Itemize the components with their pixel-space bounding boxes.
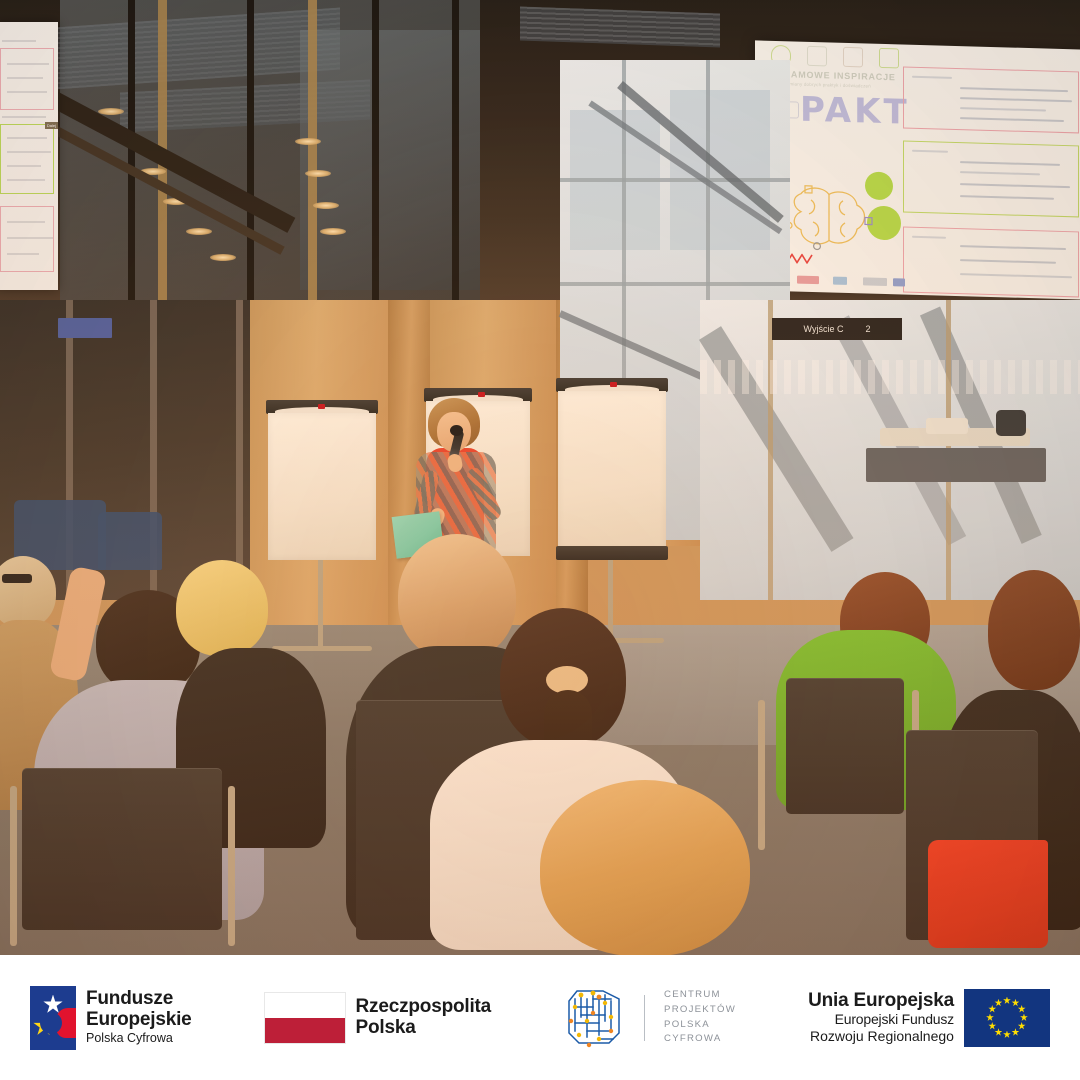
cppc-divider bbox=[644, 995, 645, 1041]
fundusze-line1: Fundusze bbox=[86, 989, 192, 1010]
slide-row bbox=[960, 117, 1064, 122]
slide-panel-pink bbox=[0, 48, 54, 110]
exit-sign-number: 2 bbox=[865, 324, 870, 334]
window-mullion bbox=[452, 0, 459, 312]
flipchart-foot bbox=[272, 646, 372, 651]
exit-sign-label: Wyjście C bbox=[804, 324, 844, 334]
eu-flag-icon bbox=[964, 989, 1050, 1047]
fundusze-line2: Europejskie bbox=[86, 1010, 192, 1031]
logo-fundusze-europejskie: Fundusze Europejskie Polska Cyfrowa bbox=[30, 986, 192, 1050]
unia-line2: Europejski Fundusz bbox=[808, 1012, 954, 1027]
bench-seat bbox=[926, 418, 968, 434]
slide-row bbox=[7, 63, 49, 65]
chair-frame bbox=[10, 786, 17, 946]
ceiling-light bbox=[186, 228, 212, 235]
unia-europejska-text: Unia Europejska Europejski Fundusz Rozwo… bbox=[808, 991, 954, 1044]
slide-row bbox=[960, 107, 1046, 112]
slide-row bbox=[960, 87, 1068, 92]
cppc-line3: POLSKA bbox=[664, 1018, 736, 1033]
slide-row bbox=[7, 253, 39, 255]
slide-heading-line bbox=[2, 116, 46, 118]
slide-row bbox=[7, 151, 51, 153]
rzeczpospolita-line1: Rzeczpospolita bbox=[356, 997, 492, 1018]
slide-agenda-panel-pink bbox=[903, 227, 1079, 298]
flipchart-marker-dot bbox=[610, 382, 617, 387]
slide-row bbox=[960, 195, 1054, 200]
chair-frame bbox=[228, 786, 235, 946]
slide-logo-chip bbox=[893, 278, 905, 286]
red-jacket-on-chair bbox=[928, 840, 1048, 948]
slide-row bbox=[912, 76, 952, 79]
eu-star-icon bbox=[1011, 999, 1019, 1007]
slide-row bbox=[912, 150, 948, 153]
slide-logo-chip bbox=[797, 276, 819, 285]
flipchart-marker-dot bbox=[318, 404, 325, 409]
polish-flag-icon bbox=[264, 992, 346, 1044]
blue-circle-icon bbox=[40, 1012, 62, 1034]
slide-row bbox=[960, 171, 1040, 175]
window-mullion bbox=[247, 0, 254, 312]
eu-star-icon bbox=[988, 1022, 996, 1030]
slide-logo-chip bbox=[833, 277, 847, 285]
logo-unia-europejska: Unia Europejska Europejski Fundusz Rozwo… bbox=[808, 989, 1050, 1047]
steam-icon-tech bbox=[807, 46, 827, 67]
projection-screen-left: Dalej bbox=[0, 22, 58, 290]
lounge-chair bbox=[98, 512, 162, 570]
frosted-glass-graphics bbox=[700, 360, 1080, 394]
slide-row bbox=[960, 161, 1060, 166]
slide-row bbox=[7, 77, 43, 79]
audience-head bbox=[988, 570, 1080, 690]
event-photograph: Dalej STEAMOWE INSPIRACJE Czas wymiany d… bbox=[0, 0, 1080, 955]
ceiling-light bbox=[210, 254, 236, 261]
steam-icon-engineering bbox=[843, 47, 863, 68]
microphone-head bbox=[450, 425, 463, 436]
slide-logo-chip bbox=[863, 277, 887, 286]
slide-next-tag: Dalej bbox=[45, 122, 58, 129]
page-root: Dalej STEAMOWE INSPIRACJE Czas wymiany d… bbox=[0, 0, 1080, 1080]
flipchart-paper bbox=[558, 391, 666, 550]
window-mullion bbox=[560, 178, 790, 182]
slide-panel-pink bbox=[0, 206, 54, 272]
logo-cppc: CENTRUM PROJEKTÓW POLSKA CYFROWA bbox=[563, 987, 736, 1049]
logo-rzeczpospolita-polska: Rzeczpospolita Polska bbox=[264, 992, 492, 1044]
steam-icon-arts bbox=[879, 48, 899, 69]
eu-star-icon bbox=[1018, 1005, 1026, 1013]
eu-star-icon bbox=[1018, 1022, 1026, 1030]
eu-star-icon bbox=[986, 1014, 994, 1022]
brain-illustration bbox=[781, 181, 877, 254]
eu-star-icon bbox=[1003, 997, 1011, 1005]
ceiling-light bbox=[320, 228, 346, 235]
slide-row bbox=[960, 245, 1066, 250]
flipchart-left bbox=[266, 400, 378, 560]
slide-row bbox=[7, 221, 45, 223]
audience-head bbox=[176, 560, 268, 656]
slide-row bbox=[960, 97, 1072, 102]
slide-row bbox=[7, 179, 45, 181]
unia-line3: Rozwoju Regionalnego bbox=[808, 1029, 954, 1044]
slide-row bbox=[7, 137, 47, 139]
cppc-circuit-mark-icon bbox=[563, 987, 625, 1049]
slide-brand: PAKT bbox=[800, 90, 910, 133]
exit-sign: Wyjście C 2 bbox=[772, 318, 902, 340]
audience-chair bbox=[22, 768, 222, 930]
cppc-line4: CYFROWA bbox=[664, 1032, 736, 1047]
eu-star-icon bbox=[988, 1005, 996, 1013]
eu-funding-logo-bar: Fundusze Europejskie Polska Cyfrowa Rzec… bbox=[0, 955, 1080, 1080]
eu-star-icon bbox=[1020, 1014, 1028, 1022]
rzeczpospolita-line2: Polska bbox=[356, 1018, 492, 1039]
audience-head-blonde bbox=[540, 780, 750, 955]
fundusze-europejskie-text: Fundusze Europejskie Polska Cyfrowa bbox=[86, 989, 192, 1046]
slide-row bbox=[7, 165, 41, 167]
eu-star-icon bbox=[994, 999, 1002, 1007]
slide-heading-line bbox=[2, 40, 36, 42]
flag-red-band bbox=[265, 1018, 345, 1043]
cppc-line2: PROJEKTÓW bbox=[664, 1003, 736, 1018]
eu-star-icon bbox=[1011, 1028, 1019, 1036]
slide-row bbox=[960, 273, 1072, 278]
rzeczpospolita-text: Rzeczpospolita Polska bbox=[356, 997, 492, 1038]
eu-star-icon bbox=[994, 1028, 1002, 1036]
flipchart-right bbox=[556, 378, 668, 550]
ceiling-light bbox=[305, 170, 331, 177]
flipchart-marker-dot bbox=[478, 392, 485, 397]
window-mullion bbox=[372, 0, 379, 312]
eyeglasses bbox=[2, 574, 32, 583]
flipchart-leg bbox=[608, 560, 613, 640]
slide-agenda-panel-pink bbox=[903, 67, 1079, 134]
ceiling-duct bbox=[520, 7, 720, 48]
slide-agenda-panel-green bbox=[903, 141, 1079, 218]
door-frame bbox=[768, 300, 773, 600]
audience-head-bald bbox=[398, 534, 516, 660]
audience-chair bbox=[786, 678, 904, 814]
slide-row bbox=[7, 91, 47, 93]
flag-white-band bbox=[265, 993, 345, 1018]
bag-object bbox=[996, 410, 1026, 436]
cppc-text: CENTRUM PROJEKTÓW POLSKA CYFROWA bbox=[664, 988, 736, 1047]
flipchart-tray bbox=[556, 546, 668, 560]
window-mullion bbox=[236, 300, 243, 600]
slide-row bbox=[960, 183, 1070, 188]
window-mullion bbox=[560, 282, 790, 286]
slide-row bbox=[960, 259, 1056, 264]
slide-row bbox=[912, 236, 946, 239]
wall-monitor bbox=[58, 318, 112, 338]
projection-screen-right: STEAMOWE INSPIRACJE Czas wymiany dobrych… bbox=[755, 40, 1080, 299]
flipchart-leg bbox=[318, 560, 323, 648]
slide-panel-green bbox=[0, 124, 54, 194]
cppc-line1: CENTRUM bbox=[664, 988, 736, 1003]
eu-star-icon bbox=[1003, 1031, 1011, 1039]
chair-frame bbox=[758, 700, 765, 850]
fundusze-line3: Polska Cyfrowa bbox=[86, 1032, 192, 1046]
unia-line1: Unia Europejska bbox=[808, 991, 954, 1012]
window-mullion bbox=[128, 0, 135, 312]
slide-row bbox=[7, 237, 53, 239]
atrium-glazing-right: Wyjście C 2 bbox=[700, 300, 1080, 600]
flipchart-paper bbox=[268, 413, 376, 560]
ceiling-light bbox=[295, 138, 321, 145]
fundusze-europejskie-mark-icon bbox=[30, 986, 76, 1050]
seating-platform bbox=[866, 448, 1046, 482]
ceiling-light bbox=[313, 202, 339, 209]
ceiling-light bbox=[98, 108, 124, 115]
support-post bbox=[308, 0, 317, 312]
